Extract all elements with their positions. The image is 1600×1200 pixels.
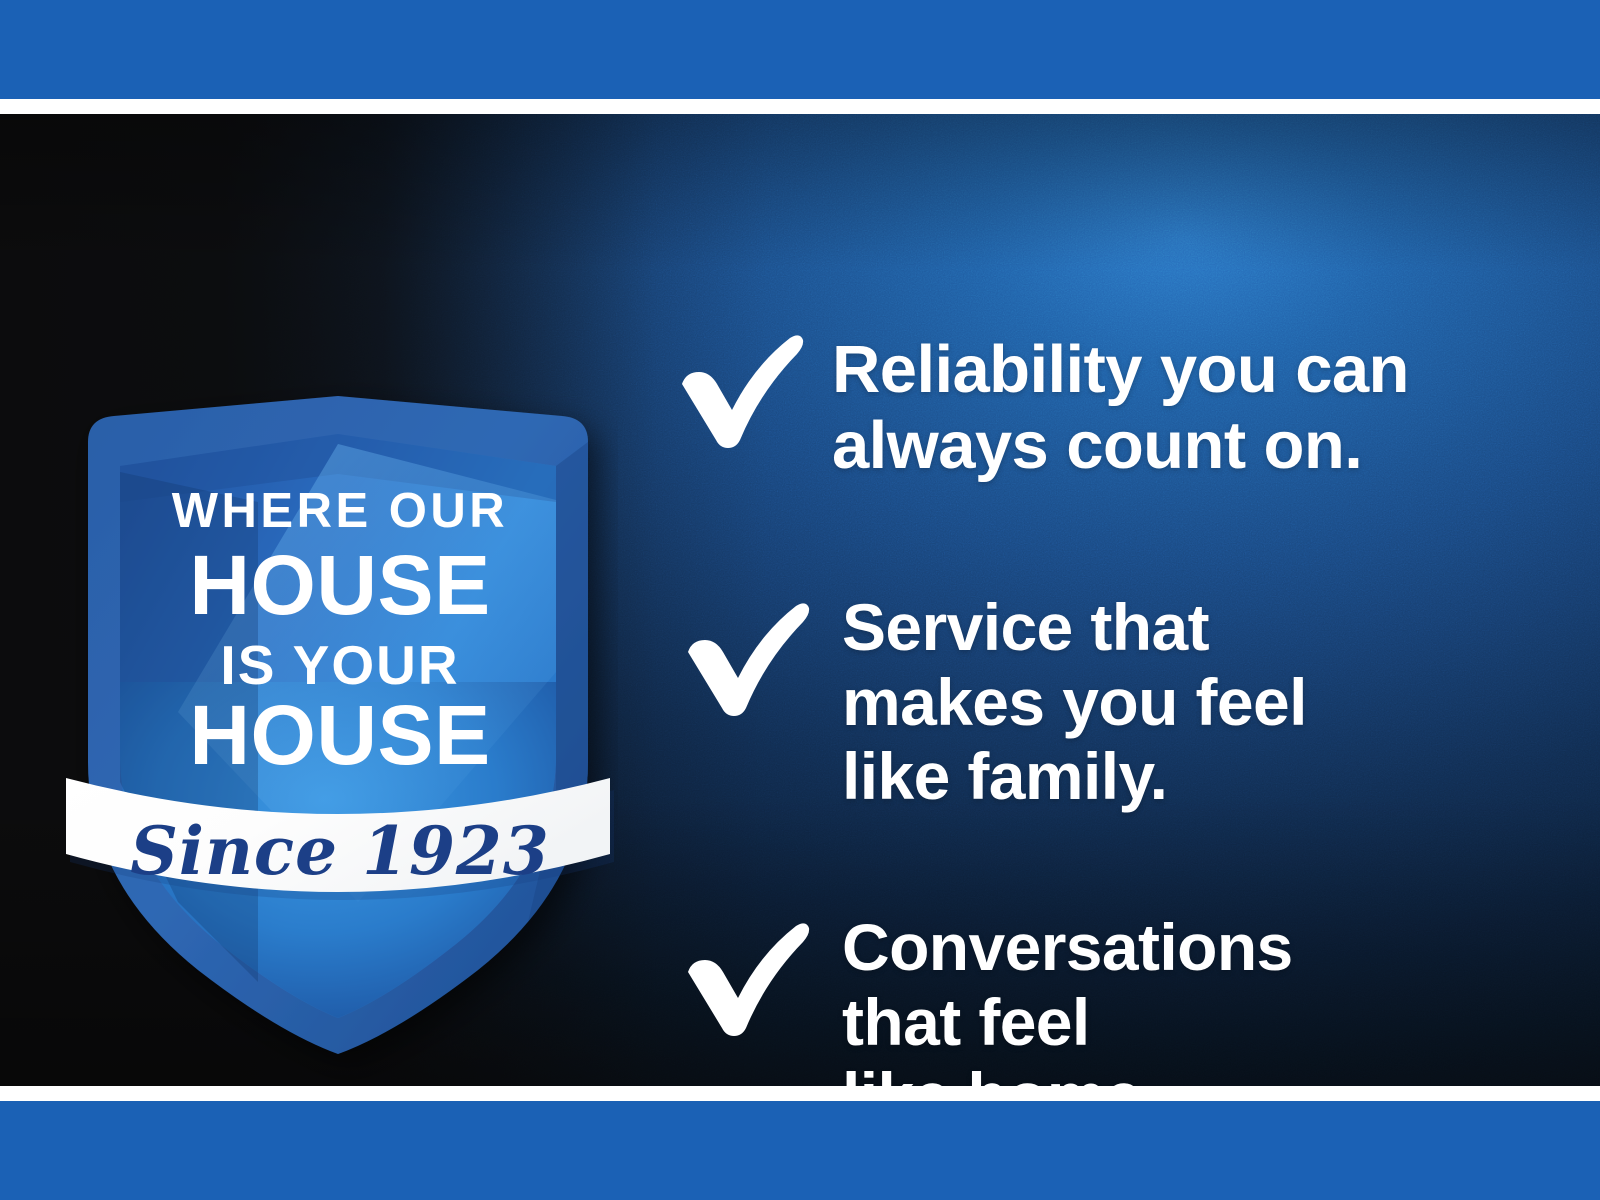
check-icon — [678, 596, 810, 716]
shield-line-1: WHERE OUR — [172, 484, 508, 538]
benefit-text-3: Conversations that feel like home. — [842, 910, 1293, 1086]
check-icon — [672, 328, 804, 448]
promo-graphic: WHERE OUR HOUSE IS YOUR HOUSE Since 1923 — [0, 0, 1600, 1200]
benefit-text-1: Reliability you can always count on. — [832, 332, 1409, 483]
shield-line-3: IS YOUR — [220, 634, 459, 696]
benefit-item-2: Service that makes you feel like family. — [678, 582, 1307, 814]
check-icon — [678, 916, 810, 1036]
main-panel: WHERE OUR HOUSE IS YOUR HOUSE Since 1923 — [0, 114, 1600, 1086]
benefit-item-1: Reliability you can always count on. — [672, 314, 1409, 483]
benefit-item-3: Conversations that feel like home. — [678, 902, 1293, 1086]
bottom-brand-bar — [0, 1101, 1600, 1200]
shield-line-2: HOUSE — [189, 538, 490, 632]
shield-line-4: HOUSE — [189, 688, 490, 782]
top-brand-bar — [0, 0, 1600, 99]
benefit-text-2: Service that makes you feel like family. — [842, 590, 1307, 814]
shield-logo: WHERE OUR HOUSE IS YOUR HOUSE Since 1923 — [58, 382, 618, 1082]
shield-ribbon-text: Since 1923 — [130, 812, 550, 890]
